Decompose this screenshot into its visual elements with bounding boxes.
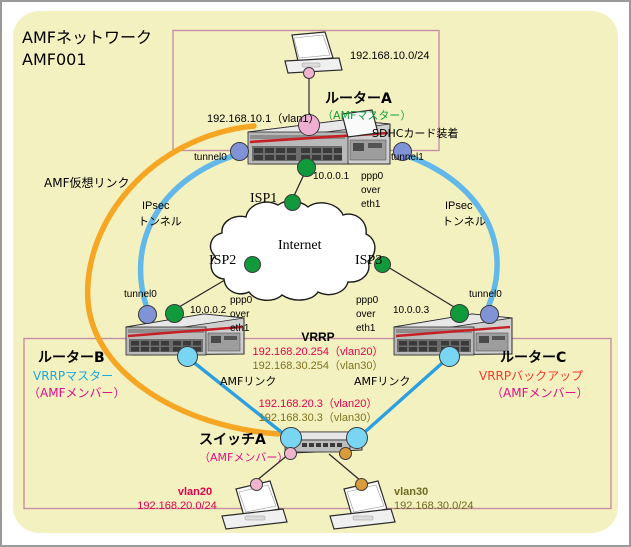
pc-vlan20-label: vlan20: [178, 486, 212, 499]
router-b-vrrp-node: [177, 346, 198, 367]
isp2-node: [244, 256, 261, 273]
router-c-eth1-label: eth1: [356, 323, 375, 335]
router-b-eth1-label: eth1: [230, 323, 249, 335]
ipsec-left-label-2: トンネル: [138, 215, 182, 228]
router-c-tunnel0-node[interactable]: [480, 305, 499, 324]
switch-a-uplink-left-node: [280, 427, 302, 449]
router-c-vrrp-node: [439, 346, 460, 367]
diagram-title-line2: AMF001: [22, 50, 87, 70]
router-b-ppp0-node: [165, 304, 184, 323]
switch-a-role-label: （AMFメンバー）: [199, 451, 288, 464]
isp2-label: ISP2: [209, 252, 236, 269]
router-c-vrrp-role-label: VRRPバックアップ: [479, 369, 583, 384]
amf-link-right-label: AMFリンク: [354, 375, 410, 388]
router-a-subnet-label: 192.168.10.0/24: [350, 50, 430, 63]
vrrp-vlan20-addr-label: 192.168.20.254（vlan20）: [253, 346, 384, 359]
router-a-vlan1-addr-label: 192.168.10.1（vlan1）: [207, 113, 320, 126]
pc-vlan30-subnet-label: 192.168.30.0/24: [394, 500, 474, 513]
isp3-to-router-c-line: [383, 264, 459, 310]
amf-virtual-link-label: AMF仮想リンク: [44, 176, 129, 191]
router-a-over-label: over: [361, 185, 380, 197]
router-c-amf-role-label: （AMFメンバー）: [491, 386, 588, 401]
router-a-tunnel0-label: tunnel0: [194, 152, 227, 164]
vrrp-vlan30-addr-label: 192.168.30.254（vlan30）: [253, 360, 384, 373]
router-a-tunnel0-node[interactable]: [230, 142, 249, 161]
switch-a-vlan30-node: [339, 447, 352, 460]
internet-cloud-label: Internet: [278, 237, 322, 254]
pc-vlan20-port-node: [250, 478, 263, 491]
pc-vlan30-label: vlan30: [394, 486, 428, 499]
router-b-tunnel0-node[interactable]: [138, 305, 157, 324]
ipsec-right-label-2: トンネル: [442, 215, 486, 228]
ipsec-tunnel-right-curve: [402, 154, 497, 305]
pc-a-port-node: [303, 67, 315, 79]
router-b-ppp0-label: ppp0: [230, 295, 252, 307]
pc-router-a-icon: [285, 32, 342, 73]
router-a-name-label: ルーターA: [325, 91, 392, 108]
router-c-wan-addr-label: 10.0.0.3: [393, 305, 429, 317]
router-c-ppp0-label: ppp0: [356, 295, 378, 307]
router-b-amf-role-label: （AMFメンバー）: [28, 386, 125, 401]
pc-vlan30-port-node: [355, 478, 368, 491]
ipsec-left-label-1: IPsec: [142, 200, 170, 213]
switch-a-name-label: スイッチA: [199, 432, 266, 449]
router-c-ppp0-node: [450, 304, 469, 323]
router-a-sdhc-label: SDHCカード装着: [372, 127, 458, 140]
router-c-over-label: over: [356, 309, 375, 321]
router-c-name-label: ルーターC: [500, 350, 566, 367]
router-a-eth1-label: eth1: [361, 199, 380, 211]
isp1-label: ISP1: [250, 190, 277, 207]
diagram-title-line1: AMFネットワーク: [22, 28, 152, 48]
router-b-wan-addr-label: 10.0.0.2: [190, 305, 226, 317]
router-b-vrrp-role-label: VRRPマスター: [33, 369, 113, 384]
router-b-over-label: over: [230, 309, 249, 321]
router-a-role-label: （AMFマスター）: [322, 109, 411, 122]
connection-layer: [2, 2, 631, 547]
router-a-ppp0-label: ppp0: [361, 171, 383, 183]
switch-a-uplink-right-node: [346, 427, 368, 449]
isp3-label: ISP3: [355, 252, 382, 269]
router-b-name-label: ルーターB: [38, 350, 105, 367]
switch-a-vlan20-addr-label: 192.168.20.3（vlan20）: [259, 398, 378, 411]
switch-a-vlan30-addr-label: 192.168.30.3（vlan30）: [259, 412, 378, 425]
router-c-tunnel0-label: tunnel0: [469, 289, 502, 301]
diagram-canvas: AMFネットワーク AMF001 192.168.10.0/24 ルーターA （…: [0, 0, 631, 547]
router-a-tunnel1-label: tunnel1: [391, 152, 424, 164]
router-a-wan-addr-label: 10.0.0.1: [313, 171, 349, 183]
isp1-node: [284, 194, 301, 211]
pc-vlan20-subnet-label: 192.168.20.0/24: [137, 500, 217, 513]
router-b-tunnel0-label: tunnel0: [124, 289, 157, 301]
ipsec-right-label-1: IPsec: [445, 200, 473, 213]
vrrp-title-label: VRRP: [301, 330, 334, 345]
amf-link-left-label: AMFリンク: [220, 375, 276, 388]
